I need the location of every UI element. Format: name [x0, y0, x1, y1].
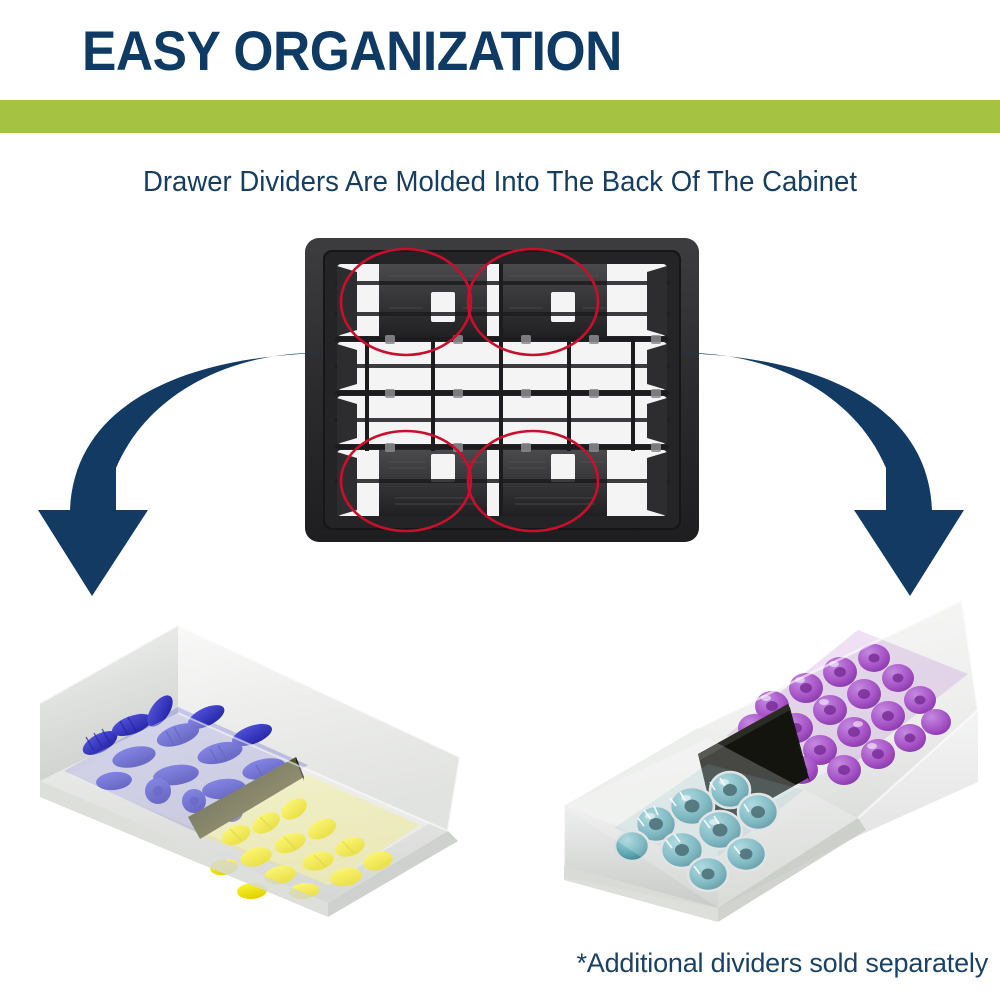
subtitle-text: Drawer Dividers Are Molded Into The Back…: [25, 163, 975, 201]
footnote-text: *Additional dividers sold separately: [0, 946, 988, 980]
drawer-right-illustration: [558, 578, 1000, 930]
cabinet-back-panel: [303, 236, 701, 544]
cabinet-interior: [325, 252, 679, 528]
page-title: EASY ORGANIZATION: [82, 18, 855, 84]
drawer-left: [28, 585, 478, 925]
drawer-right: [558, 578, 1000, 930]
drawer-left-illustration: [28, 585, 478, 925]
cabinet-illustration: [303, 236, 701, 544]
curved-arrow-right-icon: [672, 348, 972, 603]
curved-arrow-left-icon: [30, 348, 330, 603]
infographic-page: EASY ORGANIZATION Drawer Dividers Are Mo…: [0, 0, 1000, 1000]
accent-bar: [0, 100, 1000, 133]
